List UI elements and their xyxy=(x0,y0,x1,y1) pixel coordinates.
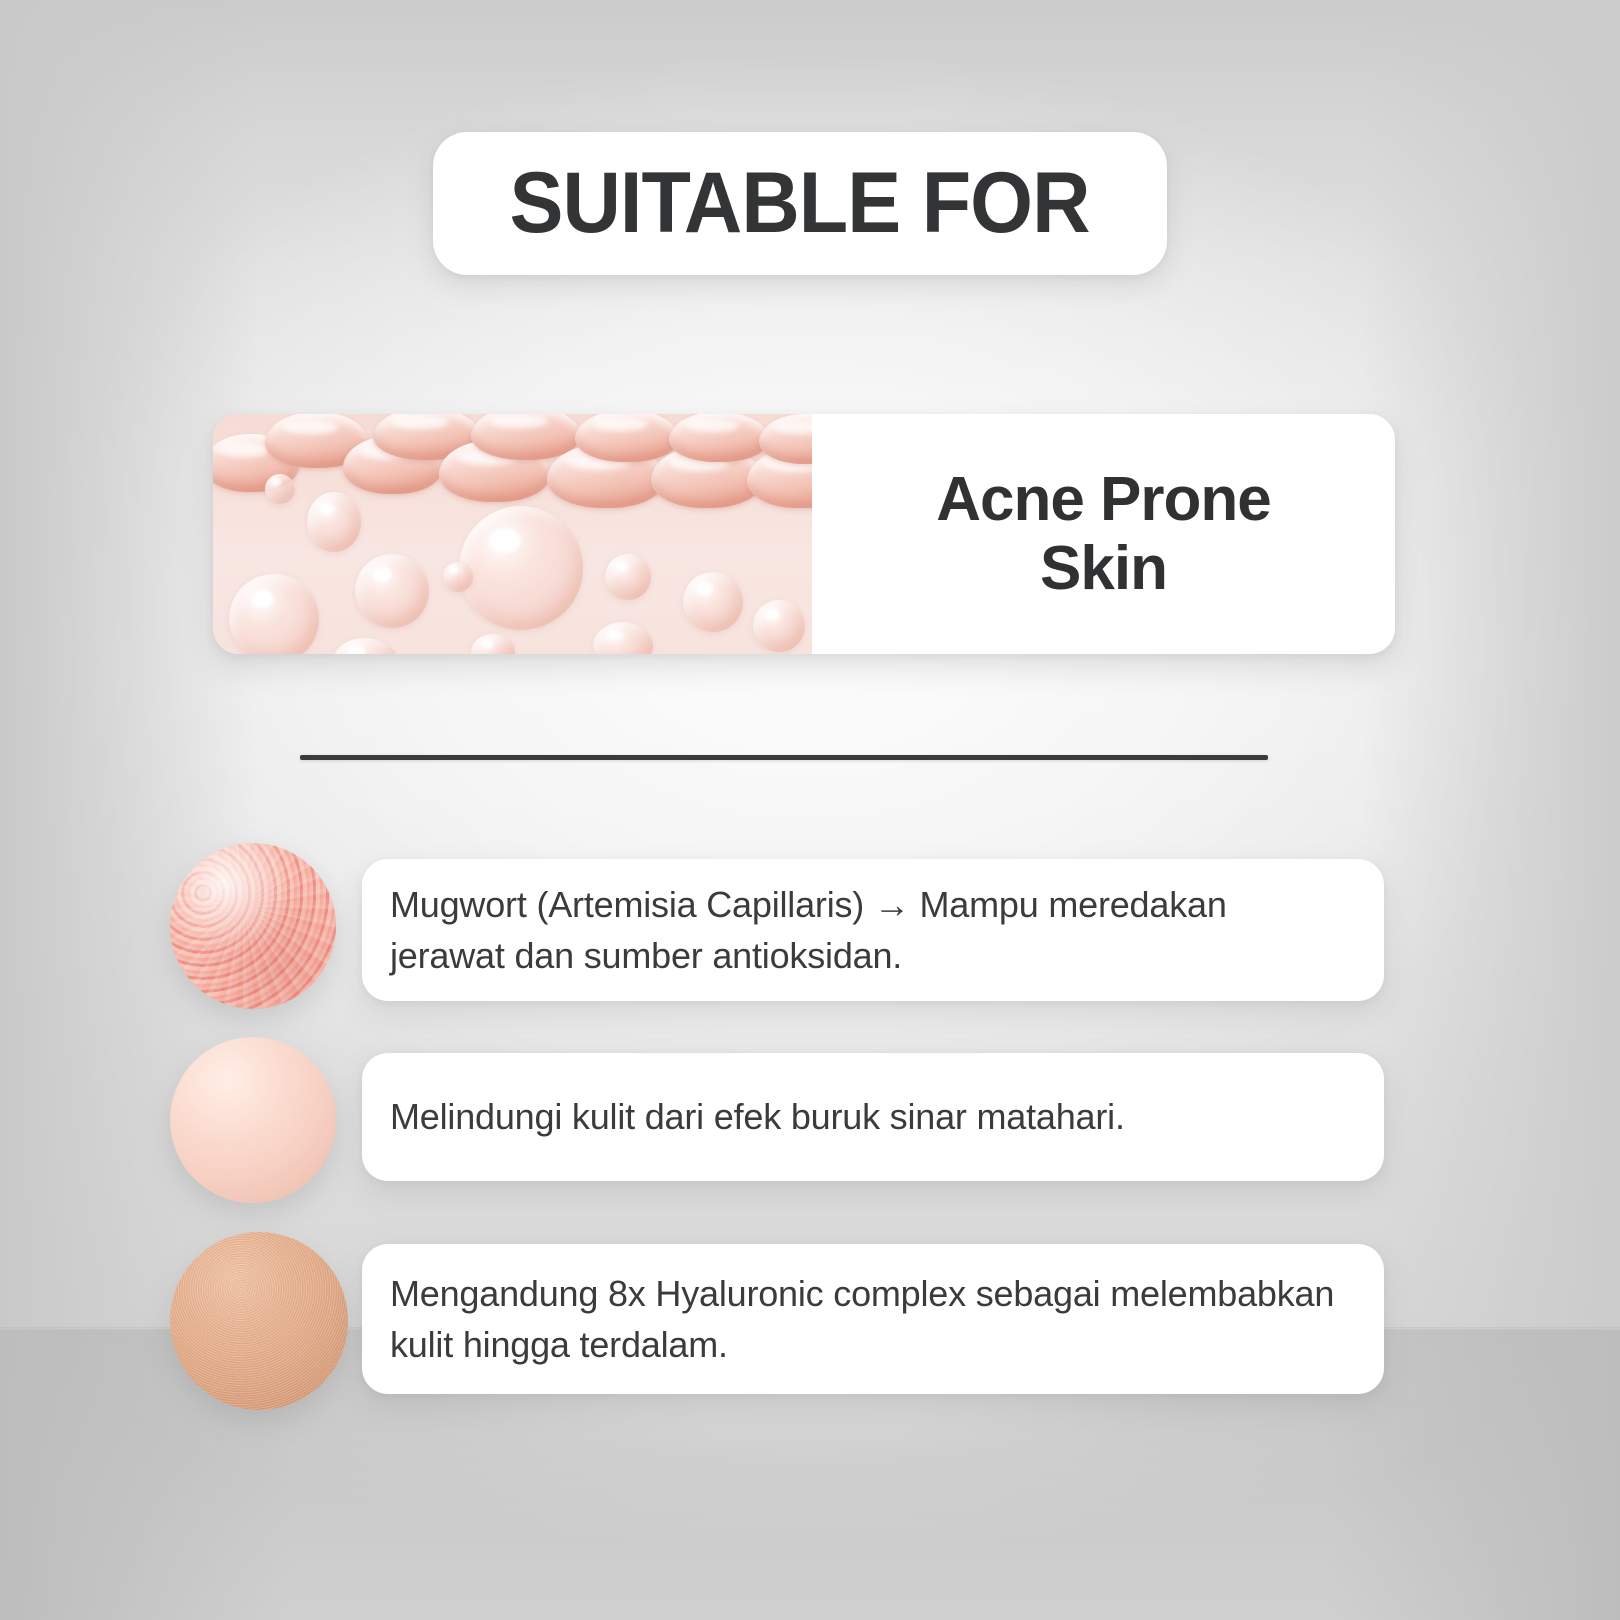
benefit-text: Melindungi kulit dari efek buruk sinar m… xyxy=(362,1091,1159,1142)
skin-cell-layer xyxy=(213,414,812,512)
page-title: SUITABLE FOR xyxy=(510,154,1090,253)
benefit-card: Mengandung 8x Hyaluronic complex sebagai… xyxy=(362,1244,1384,1394)
pink-granular-sphere-icon xyxy=(170,843,336,1009)
bubble xyxy=(471,634,515,654)
bubble xyxy=(683,572,743,632)
bubble xyxy=(593,622,653,654)
bubble xyxy=(307,492,361,552)
skin-type-line-1: Acne Prone xyxy=(936,465,1271,534)
bubble xyxy=(355,554,429,628)
tan-textured-sphere-icon xyxy=(170,1232,348,1410)
benefit-row: Melindungi kulit dari efek buruk sinar m… xyxy=(0,1031,1620,1211)
skin-cells-image xyxy=(213,414,812,654)
benefit-row: Mugwort (Artemisia Capillaris) → Mampu m… xyxy=(0,835,1620,1015)
bubble xyxy=(753,600,805,652)
benefit-text: Mengandung 8x Hyaluronic complex sebagai… xyxy=(362,1268,1384,1370)
section-divider xyxy=(300,755,1268,760)
bubble xyxy=(459,506,583,630)
benefit-card: Mugwort (Artemisia Capillaris) → Mampu m… xyxy=(362,859,1384,1001)
bubble xyxy=(333,638,397,654)
skin-type-line-2: Skin xyxy=(936,534,1271,603)
benefit-card: Melindungi kulit dari efek buruk sinar m… xyxy=(362,1053,1384,1181)
peach-smooth-sphere-icon xyxy=(170,1037,336,1203)
page-title-pill: SUITABLE FOR xyxy=(433,132,1167,275)
poster-canvas: SUITABLE FOR xyxy=(0,0,1620,1620)
benefit-row: Mengandung 8x Hyaluronic complex sebagai… xyxy=(0,1228,1620,1424)
bubble xyxy=(265,474,295,504)
benefit-text: Mugwort (Artemisia Capillaris) → Mampu m… xyxy=(362,879,1384,981)
skin-type-card: Acne Prone Skin xyxy=(213,414,1395,654)
bubble xyxy=(229,574,319,654)
skin-type-label-area: Acne Prone Skin xyxy=(812,414,1395,654)
skin-type-label: Acne Prone Skin xyxy=(936,465,1271,604)
bubble xyxy=(443,562,473,592)
bubble xyxy=(605,554,651,600)
